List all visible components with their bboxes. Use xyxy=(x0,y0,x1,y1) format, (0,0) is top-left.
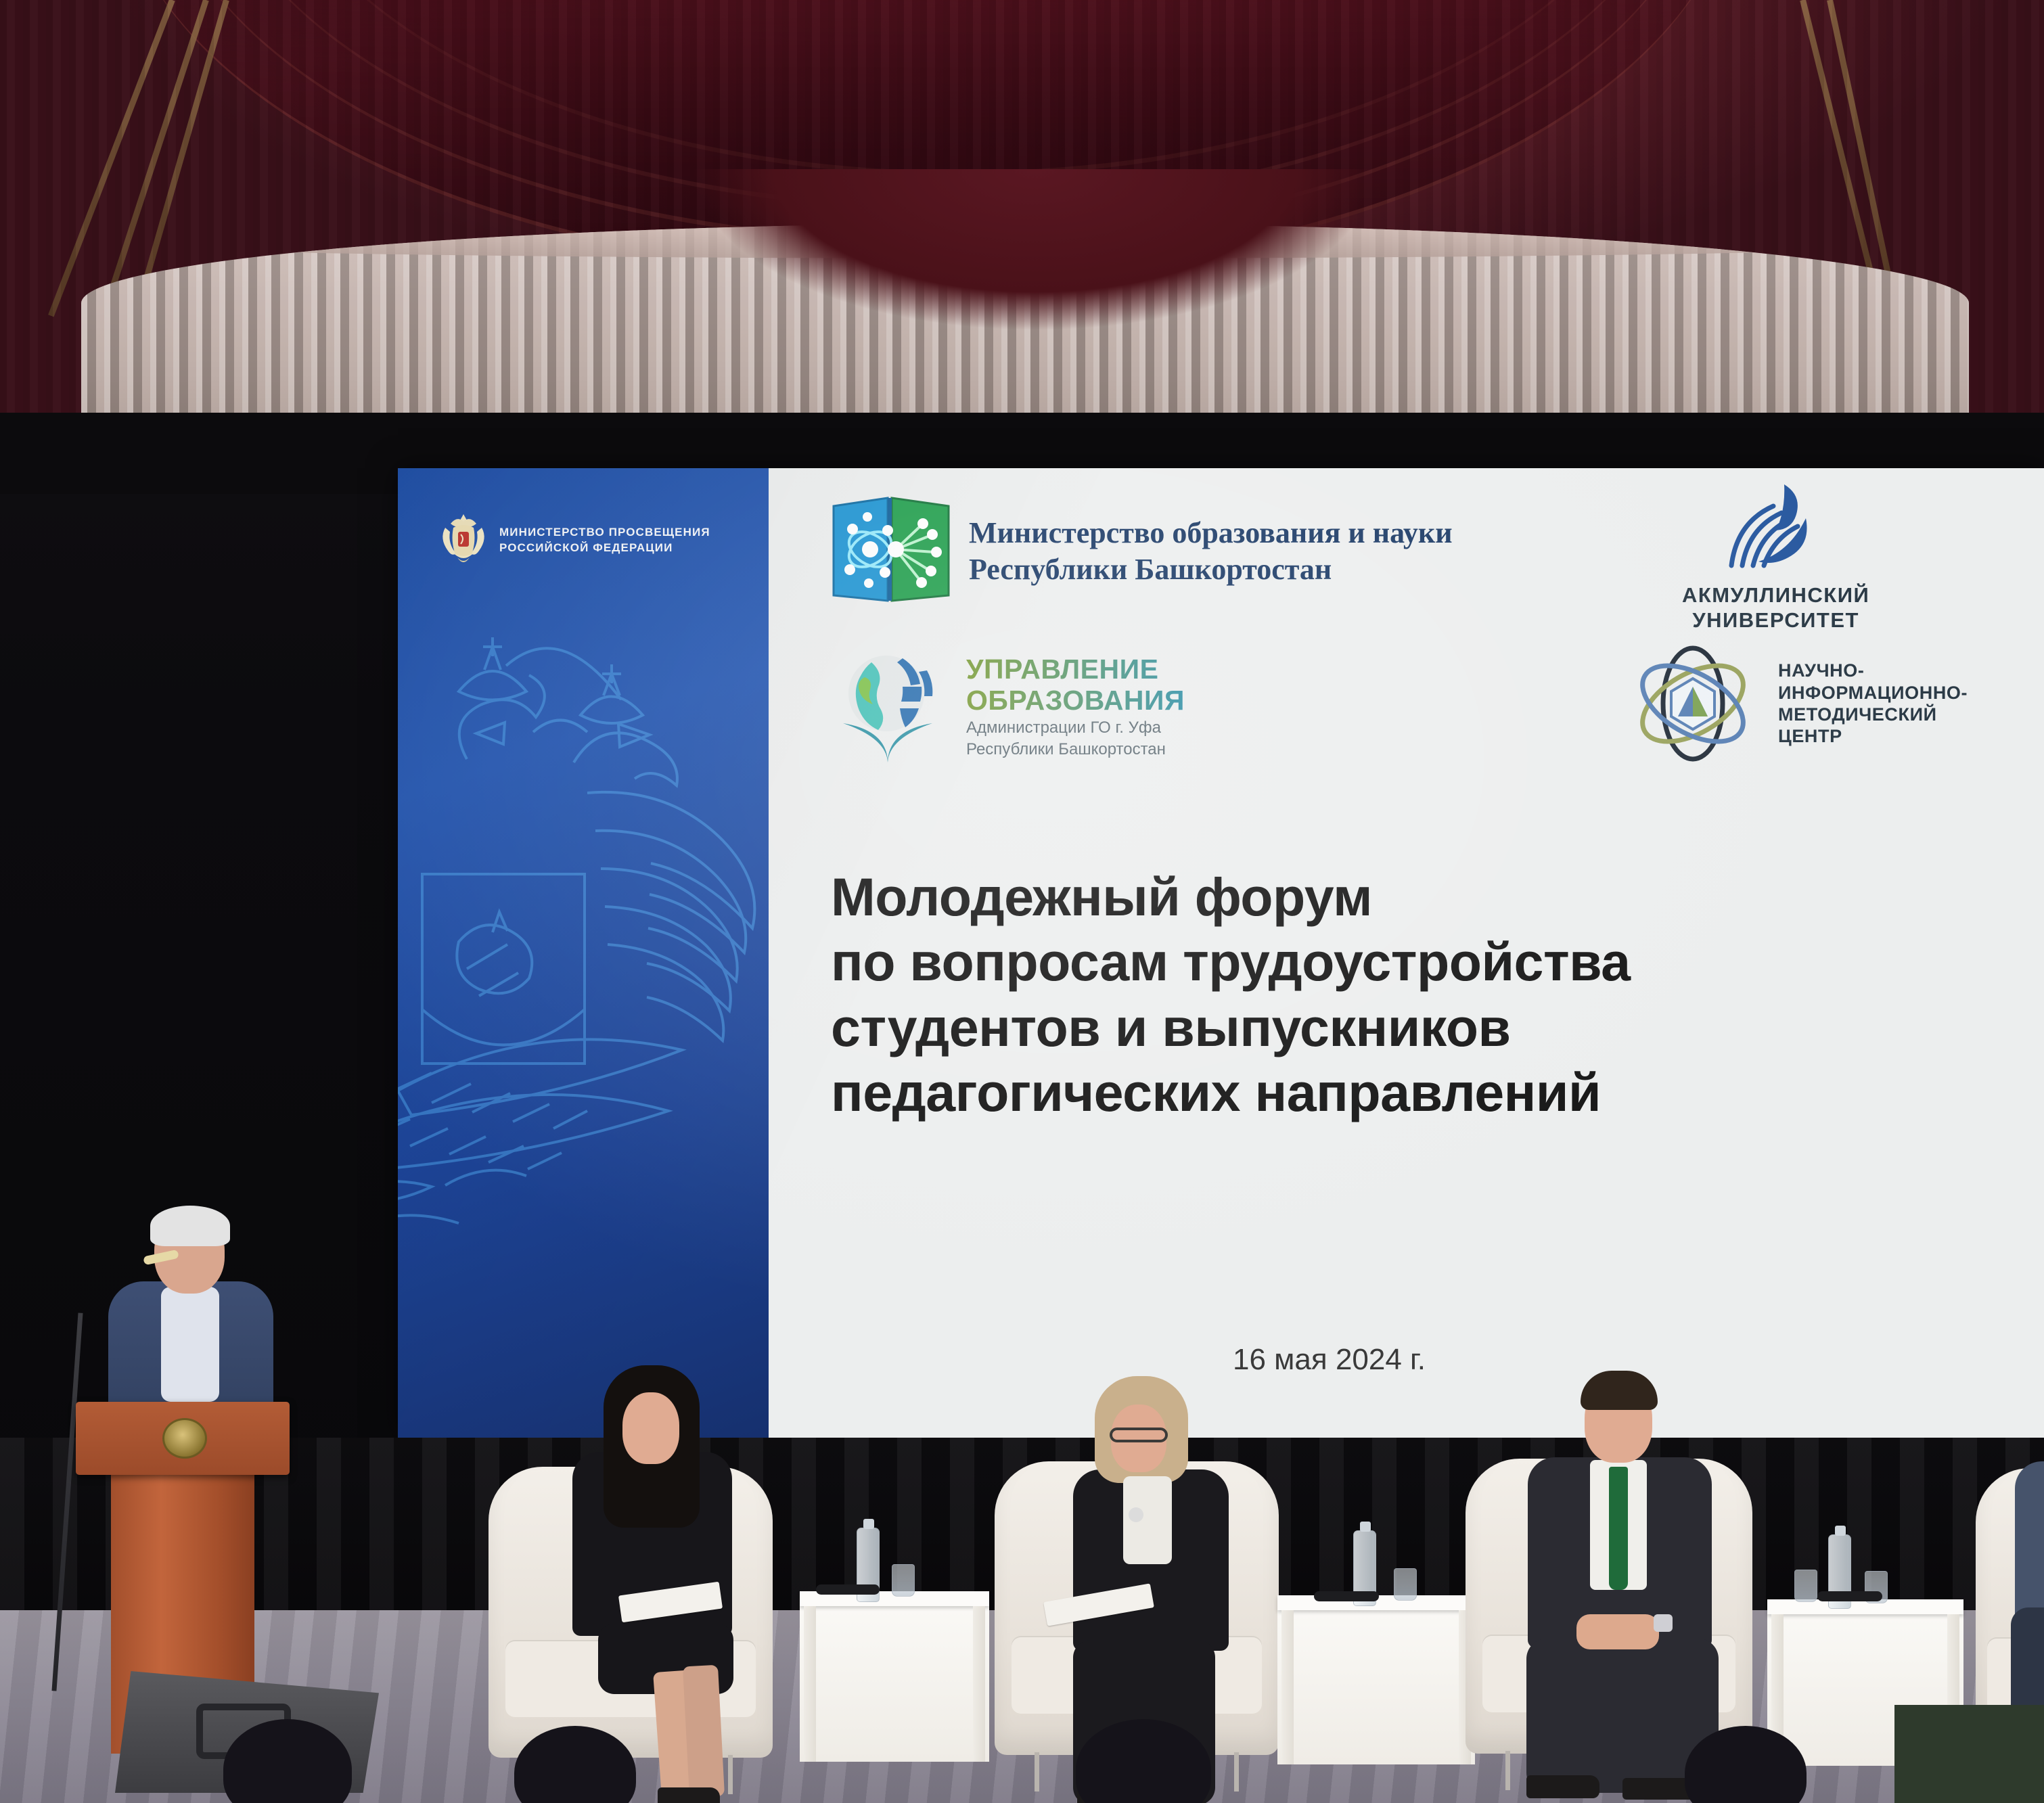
side-table-leg xyxy=(804,1606,816,1762)
armchair-leg xyxy=(1505,1751,1510,1790)
panelist-man-green-tie xyxy=(1514,1365,1758,1785)
open-book-atom-icon xyxy=(828,494,954,609)
lectern-top xyxy=(76,1402,290,1475)
draped-table-cloth xyxy=(1894,1705,2044,1803)
panelist-woman-blonde-glasses xyxy=(1053,1375,1276,1781)
nimc-line3: МЕТОДИЧЕСКИЙ xyxy=(1778,704,1968,725)
panelist-leg xyxy=(683,1665,725,1798)
slide-date: 16 мая 2024 г. xyxy=(1233,1343,1426,1377)
slide-title-line-2: по вопросам трудоустройства xyxy=(831,930,2022,995)
logo-akmullinskiy-universitet: АКМУЛЛИНСКИЙ УНИВЕРСИТЕТ xyxy=(1682,480,1869,633)
wristwatch-icon xyxy=(1654,1614,1673,1632)
logo-nimc: НАУЧНО- ИНФОРМАЦИОННО- МЕТОДИЧЕСКИЙ ЦЕНТ… xyxy=(1631,641,1968,767)
side-table-top xyxy=(1767,1599,1963,1614)
nimc-line4: ЦЕНТР xyxy=(1778,725,1968,747)
ministry-logo-line1: МИНИСТЕРСТВО ПРОСВЕЩЕНИЯ xyxy=(499,526,710,539)
nimc-line1: НАУЧНО- xyxy=(1778,660,1968,681)
lapel-badge-icon xyxy=(1129,1507,1143,1522)
minobr-line2: Республики Башкортостан xyxy=(969,554,1453,585)
akm-line1: АКМУЛЛИНСКИЙ xyxy=(1682,583,1869,608)
conference-stage-photo: МИНИСТЕРСТВО ПРОСВЕЩЕНИЯ РОССИЙСКОЙ ФЕДЕ… xyxy=(0,0,2044,1803)
side-table-2 xyxy=(1277,1595,1475,1764)
panelist-torso xyxy=(2015,1461,2044,1624)
slide-title-line-1: Молодежный форум xyxy=(831,865,2022,930)
uprav-line1: УПРАВЛЕНИЕ xyxy=(966,654,1185,685)
ministry-of-education-logo: МИНИСТЕРСТВО ПРОСВЕЩЕНИЯ РОССИЙСКОЙ ФЕДЕ… xyxy=(437,510,710,570)
panelist-hands xyxy=(1576,1614,1659,1649)
side-table-1 xyxy=(800,1591,989,1762)
projection-screen: МИНИСТЕРСТВО ПРОСВЕЩЕНИЯ РОССИЙСКОЙ ФЕДЕ… xyxy=(398,468,2044,1438)
handheld-microphone xyxy=(816,1584,880,1595)
green-tie xyxy=(1609,1467,1628,1590)
panelist-face xyxy=(622,1392,679,1464)
lectern-gold-emblem-icon xyxy=(162,1418,207,1459)
speaker-hair xyxy=(150,1206,230,1246)
man-at-podium xyxy=(89,1211,292,1434)
drinking-glass xyxy=(1394,1568,1417,1601)
slide-logo-row: Министерство образования и науки Республ… xyxy=(828,482,2039,840)
glasses-icon xyxy=(1110,1428,1168,1442)
globe-book-icon xyxy=(832,647,951,767)
panelist-shoe xyxy=(1526,1775,1599,1798)
drinking-glass xyxy=(1794,1570,1817,1602)
side-table-leg xyxy=(1281,1610,1294,1764)
wave-flame-icon xyxy=(1719,480,1833,579)
minobr-line1: Министерство образования и науки xyxy=(969,518,1453,549)
nimc-line2: ИНФОРМАЦИОННО- xyxy=(1778,682,1968,704)
slide-blue-panel: МИНИСТЕРСТВО ПРОСВЕЩЕНИЯ РОССИЙСКОЙ ФЕДЕ… xyxy=(398,468,769,1438)
russian-double-headed-eagle-emblem xyxy=(398,590,769,1266)
armchair-leg xyxy=(1035,1752,1039,1791)
ministry-logo-line2: РОССИЙСКОЙ ФЕДЕРАЦИИ xyxy=(499,541,710,555)
handheld-microphone xyxy=(1314,1591,1379,1601)
akm-line2: УНИВЕРСИТЕТ xyxy=(1692,608,1859,633)
logo-upravlenie-obrazovaniya: УПРАВЛЕНИЕ ОБРАЗОВАНИЯ Администрации ГО … xyxy=(832,647,1185,767)
logo-minobr-rb: Министерство образования и науки Республ… xyxy=(828,494,1453,609)
uprav-line3: Администрации ГО г. Уфа xyxy=(966,718,1185,738)
slide-title-line-4: педагогических направлений xyxy=(831,1060,2022,1125)
side-table-leg xyxy=(973,1606,985,1762)
uprav-line2: ОБРАЗОВАНИЯ xyxy=(966,685,1185,716)
atom-orbit-hexagon-icon xyxy=(1631,641,1763,767)
handheld-microphone xyxy=(1817,1591,1882,1601)
panelist-hair xyxy=(1581,1371,1658,1410)
russia-coat-of-arms-icon xyxy=(437,510,490,570)
uprav-line4: Республики Башкортостан xyxy=(966,739,1185,760)
panelist-shoe xyxy=(658,1787,720,1803)
slide-title: Молодежный форум по вопросам трудоустрой… xyxy=(831,865,2022,1126)
slide-title-line-3: студентов и выпускников xyxy=(831,995,2022,1060)
speaker-shirt xyxy=(161,1287,219,1402)
drinking-glass xyxy=(892,1564,915,1597)
panelist-woman-dark-hair xyxy=(556,1365,779,1778)
curtain-swag xyxy=(257,0,1664,176)
